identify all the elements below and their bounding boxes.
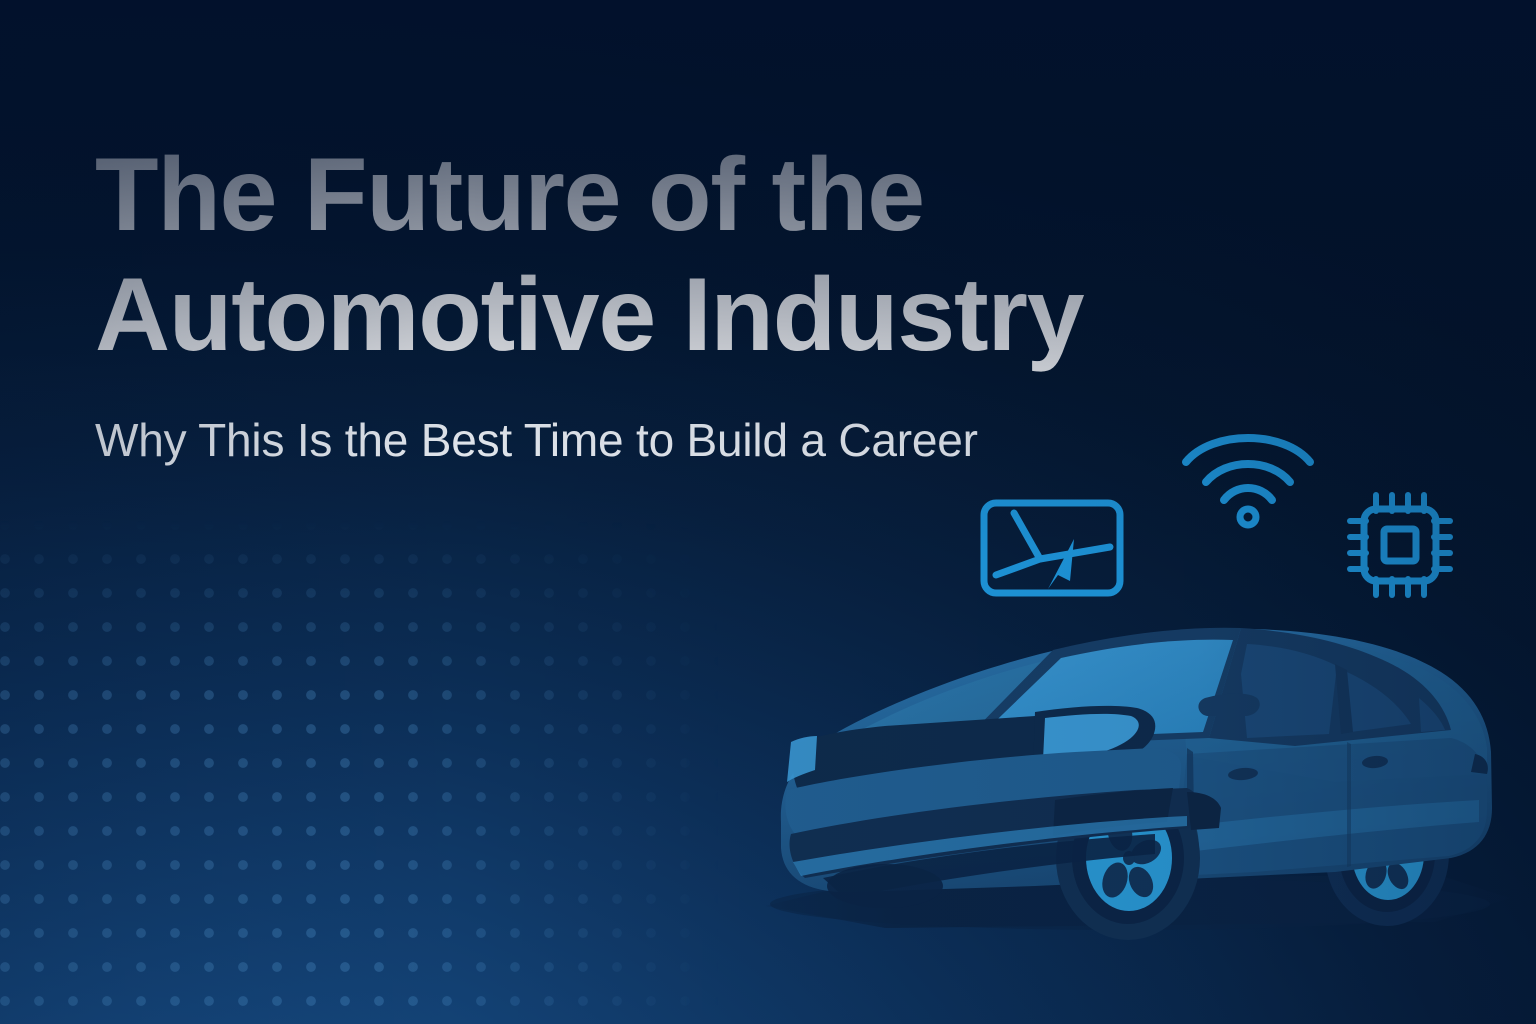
microchip-icon[interactable] xyxy=(1342,487,1458,603)
dot-grid-pattern xyxy=(0,520,720,1024)
hero-text-block: The Future of the Automotive Industry Wh… xyxy=(95,135,1215,467)
car-side-panels xyxy=(1175,738,1488,876)
car-side-windows xyxy=(1198,628,1451,746)
navigation-map-icon[interactable] xyxy=(978,497,1126,599)
page-subtitle: Why This Is the Best Time to Build a Car… xyxy=(95,413,1215,467)
page-title: The Future of the Automotive Industry xyxy=(95,135,1215,375)
hero-banner: The Future of the Automotive Industry Wh… xyxy=(0,0,1536,1024)
car-illustration xyxy=(735,586,1525,966)
